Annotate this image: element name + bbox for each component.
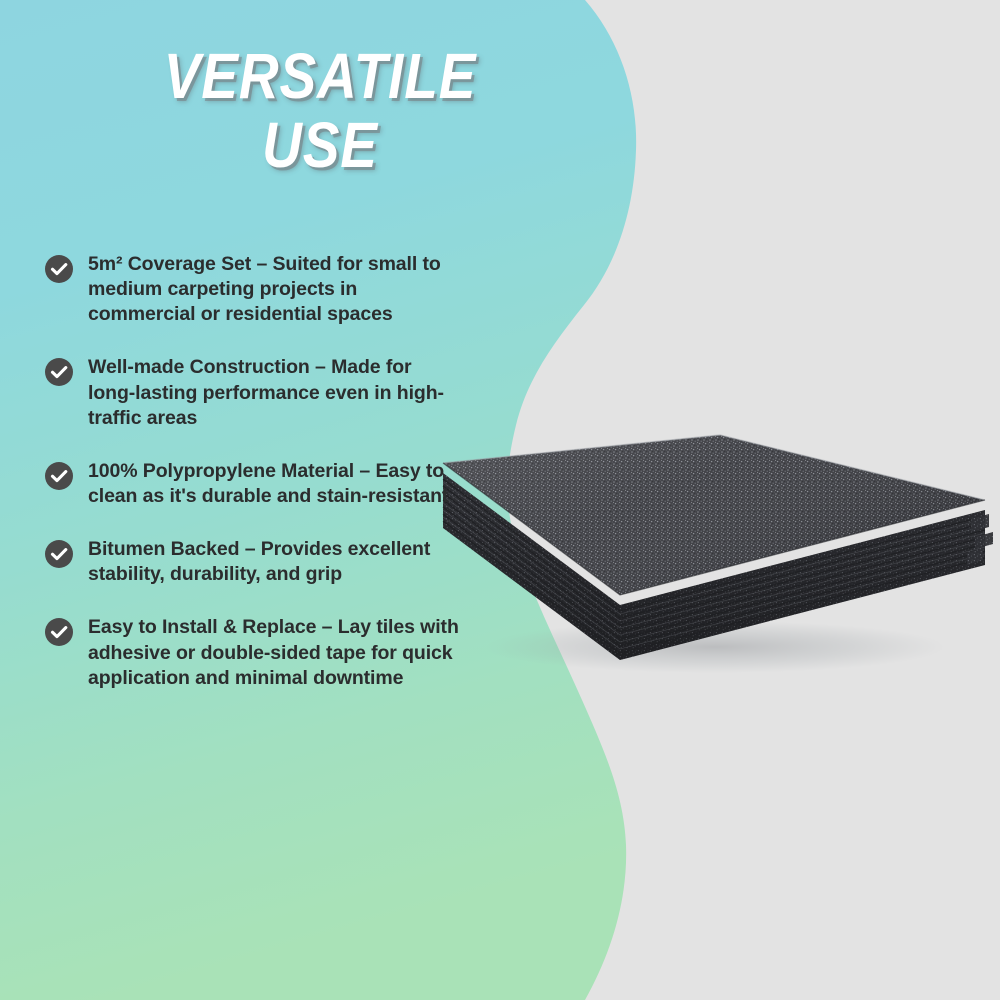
product-image-carpet-tile-stack xyxy=(415,415,1000,685)
check-circle-icon xyxy=(44,617,74,647)
feature-text-1: 5m² Coverage Set – Suited for small to m… xyxy=(88,252,460,327)
check-circle-icon xyxy=(44,254,74,284)
feature-text-4: Bitumen Backed – Provides excellent stab… xyxy=(88,537,460,587)
feature-item-1: 5m² Coverage Set – Suited for small to m… xyxy=(44,252,494,327)
feature-text-3: 100% Polypropylene Material – Easy to cl… xyxy=(88,459,460,509)
feature-item-5: Easy to Install & Replace – Lay tiles wi… xyxy=(44,615,494,690)
feature-list: 5m² Coverage Set – Suited for small to m… xyxy=(44,252,494,691)
feature-item-4: Bitumen Backed – Provides excellent stab… xyxy=(44,537,494,587)
feature-text-5: Easy to Install & Replace – Lay tiles wi… xyxy=(88,615,460,690)
feature-text-2: Well-made Construction – Made for long-l… xyxy=(88,355,460,430)
carpet-tile-stack-illustration xyxy=(415,415,1000,685)
check-circle-icon xyxy=(44,539,74,569)
infographic-canvas: VERSATILE USE xyxy=(0,0,1000,1000)
check-circle-icon xyxy=(44,357,74,387)
feature-item-2: Well-made Construction – Made for long-l… xyxy=(44,355,494,430)
check-circle-icon xyxy=(44,461,74,491)
feature-item-3: 100% Polypropylene Material – Easy to cl… xyxy=(44,459,494,509)
